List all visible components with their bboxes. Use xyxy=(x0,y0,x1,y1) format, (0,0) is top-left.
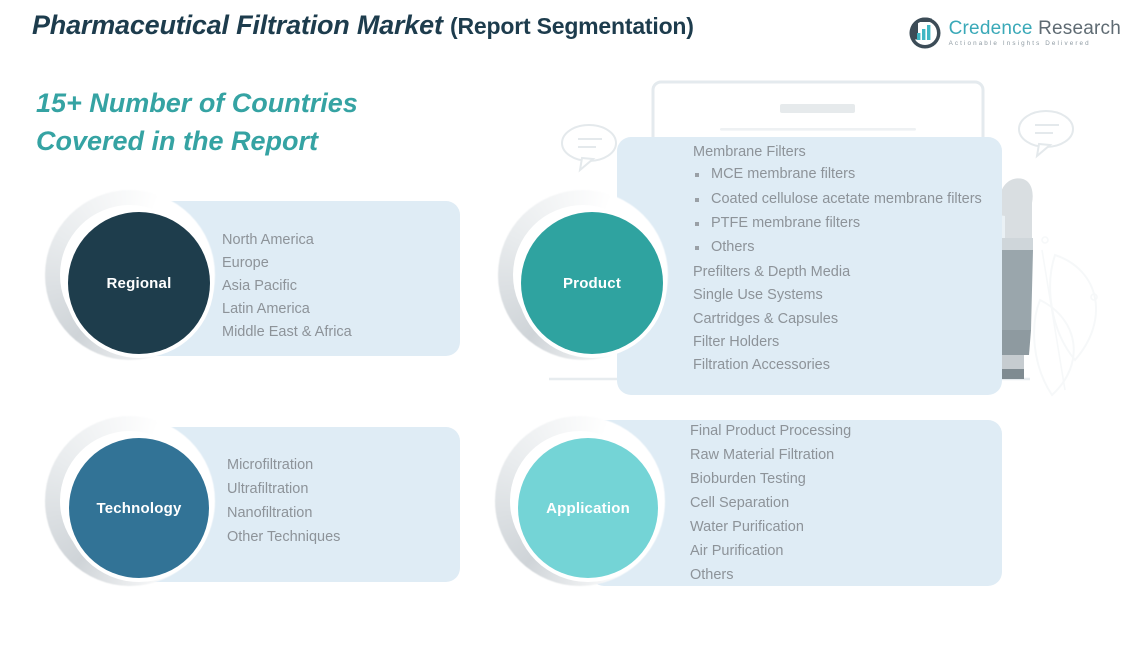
list-item: Water Purification xyxy=(690,515,851,539)
list-item: Ultrafiltration xyxy=(227,478,340,502)
segment-label-application: Application xyxy=(546,500,630,517)
list-item: Others xyxy=(690,563,851,587)
segment-circle-technology[interactable]: Technology xyxy=(69,438,209,578)
list-item: Middle East & Africa xyxy=(222,321,352,344)
segment-circle-application[interactable]: Application xyxy=(518,438,658,578)
segment-label-technology: Technology xyxy=(96,500,181,517)
page-title-sub: (Report Segmentation) xyxy=(450,13,694,39)
list-item: Other Techniques xyxy=(227,526,340,550)
logo-tagline: Actionable Insights Delivered xyxy=(949,41,1121,47)
list-item: Asia Pacific xyxy=(222,275,352,298)
speech-bubble-icon xyxy=(562,125,616,170)
segment-label-product: Product xyxy=(563,275,621,292)
sub-list-item: MCE membrane filters xyxy=(693,164,993,185)
segment-list-technology: Microfiltration Ultrafiltration Nanofilt… xyxy=(227,454,340,550)
logo-name-accent: Credence xyxy=(949,18,1033,39)
bar-chart-circle-icon xyxy=(908,16,942,50)
leaf-icon xyxy=(1034,237,1097,395)
list-item: Prefilters & Depth Media xyxy=(693,261,993,284)
segment-label-regional: Regional xyxy=(107,275,172,292)
brand-logo[interactable]: Credence Research Actionable Insights De… xyxy=(908,16,1121,50)
list-item: Membrane Filters xyxy=(693,141,993,164)
logo-name-rest: Research xyxy=(1033,18,1121,39)
list-item: Nanofiltration xyxy=(227,502,340,526)
sub-list-item: PTFE membrane filters xyxy=(693,213,993,234)
logo-title: Credence Research xyxy=(949,19,1121,38)
segment-circle-product[interactable]: Product xyxy=(521,212,663,354)
list-item: Filtration Accessories xyxy=(693,354,993,377)
segment-circle-regional[interactable]: Regional xyxy=(68,212,210,354)
segment-sublist-product: MCE membrane filters Coated cellulose ac… xyxy=(693,164,993,257)
list-item: Raw Material Filtration xyxy=(690,443,851,467)
segment-list-regional: North America Europe Asia Pacific Latin … xyxy=(222,229,352,344)
segment-list-product: Membrane Filters MCE membrane filters Co… xyxy=(693,141,993,378)
list-item: Cell Separation xyxy=(690,491,851,515)
page-header: Pharmaceutical Filtration Market (Report… xyxy=(0,0,1143,62)
list-item: Cartridges & Capsules xyxy=(693,308,993,331)
sub-list-item: Others xyxy=(693,237,993,258)
countries-covered-headline: 15+ Number of Countries Covered in the R… xyxy=(36,84,358,161)
list-item: Latin America xyxy=(222,298,352,321)
page-title: Pharmaceutical Filtration Market (Report… xyxy=(32,10,694,41)
list-item: Single Use Systems xyxy=(693,284,993,307)
list-item: Europe xyxy=(222,252,352,275)
sub-list-item: Coated cellulose acetate membrane filter… xyxy=(693,189,993,210)
list-item: Bioburden Testing xyxy=(690,467,851,491)
list-item: North America xyxy=(222,229,352,252)
segment-list-application: Final Product Processing Raw Material Fi… xyxy=(690,419,851,587)
speech-bubble-icon xyxy=(1019,111,1073,156)
list-item: Air Purification xyxy=(690,539,851,563)
list-item: Microfiltration xyxy=(227,454,340,478)
page-title-main: Pharmaceutical Filtration Market xyxy=(32,10,450,40)
list-item: Filter Holders xyxy=(693,331,993,354)
list-item: Final Product Processing xyxy=(690,419,851,443)
